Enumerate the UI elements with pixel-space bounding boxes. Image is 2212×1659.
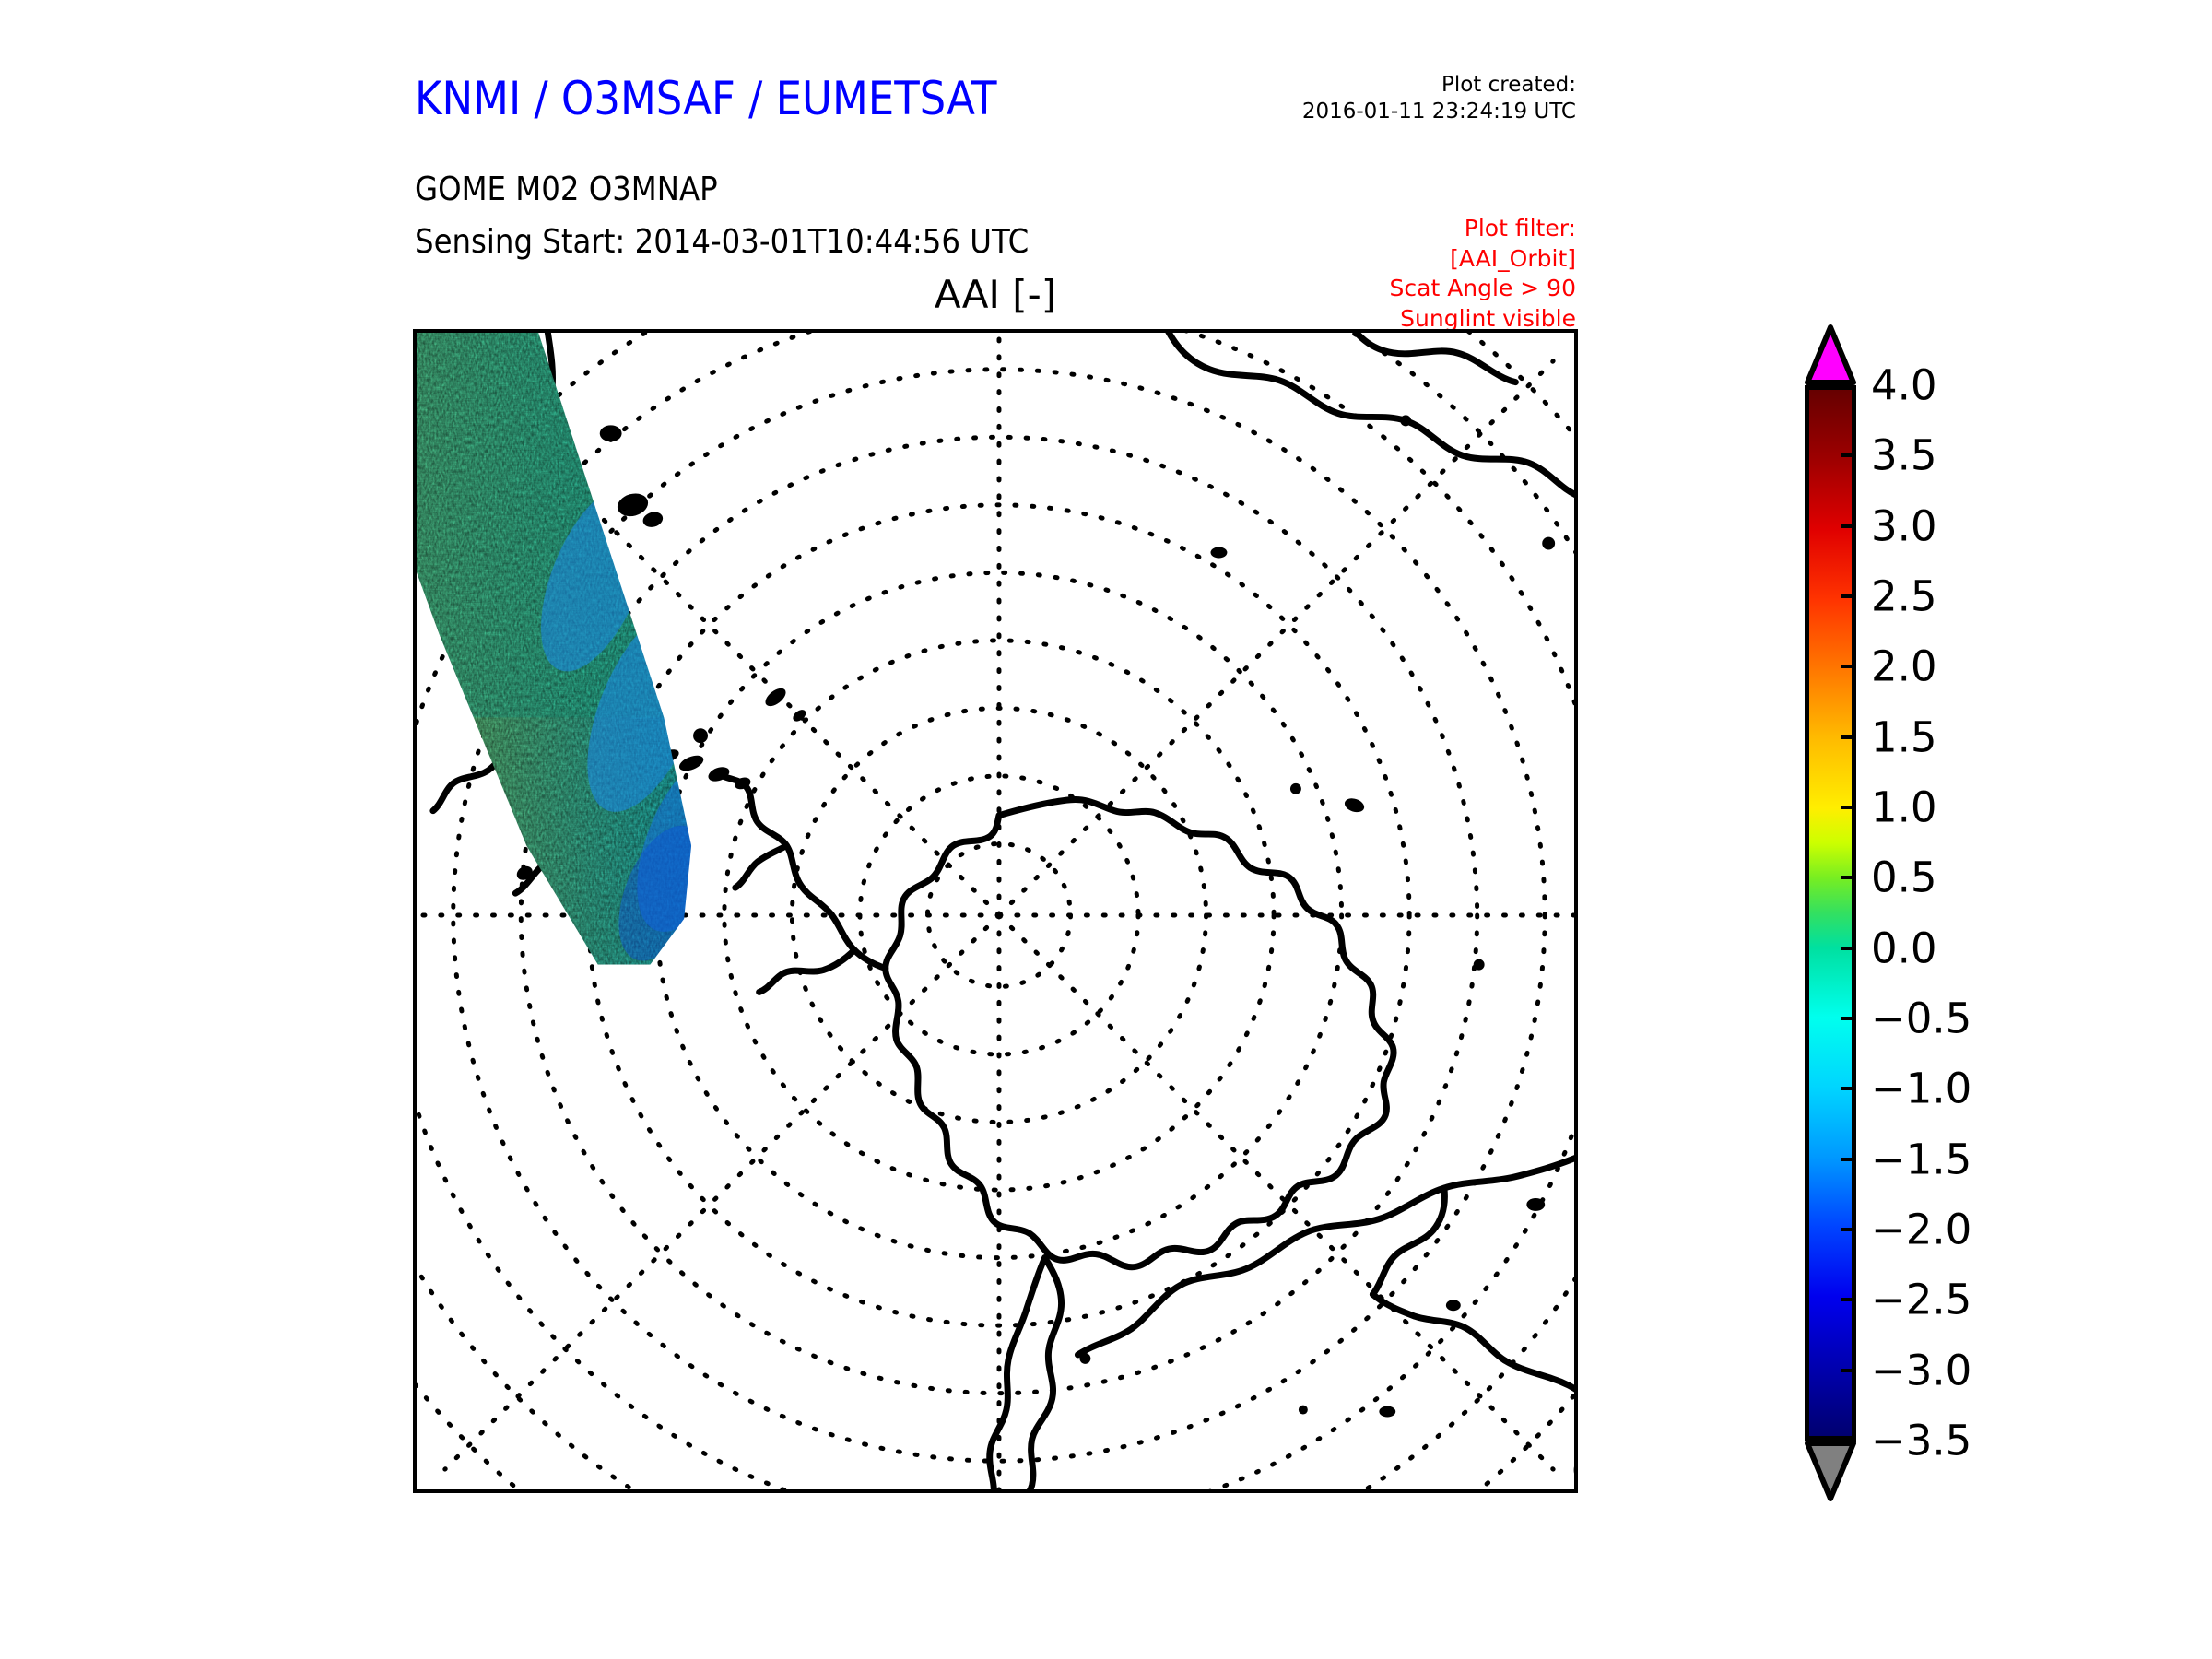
colorbar-tick-label: 4.0 [1871, 361, 1937, 410]
colorbar-tick-label: 1.5 [1871, 712, 1937, 761]
colorbar-over-range-arrow [1805, 324, 1856, 385]
islands-new-zealand-outlying [942, 1353, 1090, 1489]
colorbar-tick [1841, 1298, 1856, 1301]
colorbar-tick [1841, 453, 1856, 457]
colorbar-tick-label: 0.0 [1871, 924, 1937, 972]
colorbar-tick-label: 3.0 [1871, 501, 1937, 550]
colorbar-ticks [1805, 385, 1856, 1441]
islands-falklands [600, 425, 665, 529]
colorbar-tick [1841, 1017, 1856, 1020]
colorbar-tick-label: 0.5 [1871, 853, 1937, 902]
colorbar-tick [1841, 524, 1856, 528]
colorbar-tick-label: −1.5 [1871, 1135, 1971, 1183]
colorbar-tick-label: −1.0 [1871, 1065, 1971, 1113]
colorbar-tick-labels: 4.03.53.02.52.01.51.00.50.0−0.5−1.0−1.5−… [1871, 385, 2175, 1441]
colorbar-tick-label: −2.0 [1871, 1206, 1971, 1254]
colorbar-tick-label: −2.5 [1871, 1276, 1971, 1324]
coastline-antarctic-peninsula [717, 772, 886, 992]
colorbar-tick [1841, 947, 1856, 950]
colorbar-tick [1841, 1087, 1856, 1090]
colorbar-tick-label: −0.5 [1871, 994, 1971, 1043]
chart-title: AAI [-] [413, 272, 1578, 317]
colorbar-tick [1841, 876, 1856, 879]
colorbar-tick-label: 1.0 [1871, 783, 1937, 832]
plot-created-value: 2016-01-11 23:24:19 UTC [1302, 99, 1576, 125]
colorbar-tick-label: −3.5 [1871, 1417, 1971, 1465]
dataset-label: GOME M02 O3MNAP [415, 171, 718, 208]
coastline-australia [1077, 1157, 1574, 1394]
polar-stereographic-map [417, 333, 1574, 1489]
page-title: KNMI / O3MSAF / EUMETSAT [415, 72, 997, 125]
colorbar-tick [1841, 1369, 1856, 1372]
colorbar-tick [1841, 665, 1856, 668]
map-plot-area[interactable] [413, 329, 1578, 1493]
colorbar-tick [1841, 735, 1856, 739]
islands-south-georgia [762, 685, 808, 724]
filter-line-0: Plot filter: [1390, 214, 1576, 244]
colorbar-tick-label: 2.5 [1871, 572, 1937, 621]
sensing-start-label: Sensing Start: 2014-03-01T10:44:56 UTC [415, 223, 1029, 261]
filter-line-1: [AAI_Orbit] [1390, 244, 1576, 275]
plot-created-label: Plot created: [1302, 72, 1576, 99]
satellite-swath [417, 333, 1574, 1029]
colorbar-tick [1841, 806, 1856, 809]
colorbar-tick [1841, 1228, 1856, 1231]
colorbar-tick-label: 2.0 [1871, 642, 1937, 691]
coastline-antarctica [886, 800, 1394, 1267]
colorbar-tick [1841, 1158, 1856, 1161]
coastline-africa [1160, 333, 1574, 496]
colorbar-under-range-arrow [1805, 1441, 1856, 1501]
colorbar-tick [1841, 594, 1856, 598]
plot-created-block: Plot created: 2016-01-11 23:24:19 UTC [1302, 72, 1576, 126]
colorbar-tick-label: 3.5 [1871, 431, 1937, 480]
colorbar-tick-label: −3.0 [1871, 1346, 1971, 1394]
colorbar[interactable]: 4.03.53.02.52.01.51.00.50.0−0.5−1.0−1.5−… [1805, 324, 2192, 1504]
